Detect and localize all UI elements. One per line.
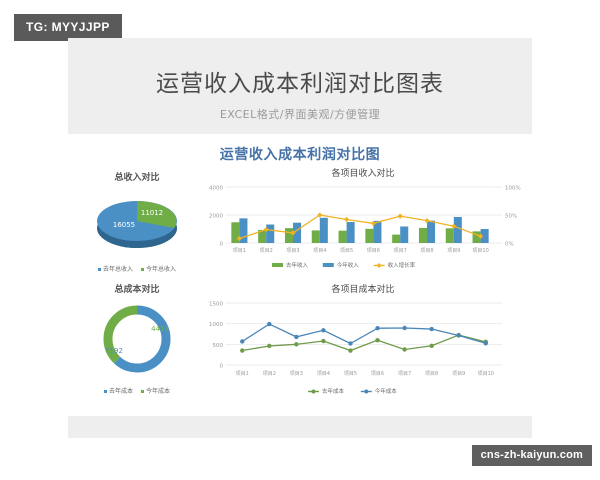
bar-last-year	[339, 231, 347, 243]
bar-x-tick: 项目6	[367, 248, 380, 254]
bar-this-year	[400, 226, 408, 243]
cost-point	[348, 348, 352, 352]
total-revenue-pie-chart: 总收入对比 16055 11012 去年总收入	[76, 170, 198, 274]
cost-point	[240, 339, 244, 343]
line-legend-label: 今年成本	[375, 387, 398, 395]
bar-y2-tick: 50%	[505, 214, 517, 220]
bar-x-tick: 项目2	[260, 248, 273, 254]
legend-item-this-year-cost: 今年成本	[141, 386, 170, 395]
growth-rate-line	[239, 215, 480, 239]
dashboard-heading: 运营收入成本利润对比图	[68, 144, 532, 164]
cost-point	[402, 326, 406, 330]
line-x-tick: 项目1	[236, 371, 249, 377]
bar-y-tick: 4000	[209, 186, 223, 192]
cost-point	[267, 344, 271, 348]
line-x-tick: 项目9	[452, 371, 465, 377]
cost-point	[321, 328, 325, 332]
cost-point	[294, 342, 298, 346]
line-chart-title: 各项目成本对比	[200, 282, 526, 295]
bar-this-year	[320, 218, 328, 243]
bar-chart-svg: 0200040000%50%100%项目1项目2项目3项目4项目5项目6项目7项…	[200, 181, 526, 277]
cost-point	[240, 348, 244, 352]
cost-point	[429, 327, 433, 331]
pie-chart-title: 总收入对比	[76, 170, 198, 183]
legend-swatch-icon	[141, 268, 144, 271]
bar-x-tick: 项目10	[472, 248, 488, 254]
bar-this-year	[347, 222, 355, 243]
bar-y-tick: 2000	[209, 214, 223, 220]
total-cost-donut-chart: 总成本对比 7192 4413 去年成本 今年成本	[76, 282, 198, 394]
legend-swatch-icon	[141, 390, 144, 393]
legend-label: 今年成本	[146, 388, 170, 395]
bar-this-year	[454, 217, 462, 243]
pie-label-last-year: 16055	[113, 221, 135, 229]
pie-label-this-year: 11012	[141, 209, 163, 217]
cost-point	[294, 335, 298, 339]
pie-chart-legend: 去年总收入 今年总收入	[76, 264, 198, 273]
line-y-tick: 1000	[209, 322, 223, 328]
bar-y-tick: 0	[220, 242, 224, 248]
bar-this-year	[266, 225, 274, 243]
site-watermark: cns-zh-kaiyun.com	[472, 445, 592, 466]
bar-x-tick: 项目1	[233, 248, 246, 254]
bar-last-year	[285, 228, 293, 243]
line-x-tick: 项目5	[344, 371, 357, 377]
donut-chart-title: 总成本对比	[76, 282, 198, 295]
legend-item-last-year-revenue: 去年总收入	[98, 264, 133, 273]
dashboard-card: 运营收入成本利润对比图 总收入对比 16055 11012	[68, 134, 532, 416]
bar-last-year	[392, 235, 400, 243]
bar-last-year	[419, 228, 427, 243]
cost-point	[267, 322, 271, 326]
bar-last-year	[446, 228, 454, 243]
bar-x-tick: 项目4	[313, 248, 326, 254]
bar-y2-tick: 100%	[505, 186, 521, 192]
bar-this-year	[427, 221, 435, 243]
bar-legend-label: 去年收入	[286, 261, 309, 269]
bar-chart-title: 各项目收入对比	[200, 166, 526, 179]
cost-point	[348, 341, 352, 345]
cost-point	[484, 341, 488, 345]
cost-point	[429, 344, 433, 348]
line-chart-svg: 050010001500项目1项目2项目3项目4项目5项目6项目7项目8项目9项…	[200, 297, 526, 403]
line-x-tick: 项目8	[425, 371, 438, 377]
bar-x-tick: 项目3	[286, 248, 299, 254]
legend-item-last-year-cost: 去年成本	[104, 386, 133, 395]
donut-label-last-year: 7192	[105, 347, 123, 355]
cost-point	[402, 347, 406, 351]
project-revenue-bar-chart: 各项目收入对比 0200040000%50%100%项目1项目2项目3项目4项目…	[200, 166, 526, 278]
line-x-tick: 项目7	[398, 371, 411, 377]
growth-rate-marker	[398, 214, 403, 219]
line-y-tick: 500	[213, 343, 224, 349]
screenshot-root: TG: MYYJJPP 运营收入成本利润对比图表 EXCEL格式/界面美观/方便…	[0, 0, 600, 480]
cost-point	[375, 326, 379, 330]
bar-y2-tick: 0%	[505, 242, 514, 248]
legend-label: 去年成本	[109, 388, 133, 395]
cost-point	[457, 333, 461, 337]
bar-last-year	[365, 229, 373, 243]
line-x-tick: 项目6	[371, 371, 384, 377]
bar-x-tick: 项目7	[394, 248, 407, 254]
growth-rate-marker	[344, 217, 349, 222]
telegram-watermark-badge: TG: MYYJJPP	[14, 14, 122, 41]
line-x-tick: 项目10	[478, 371, 494, 377]
legend-label: 今年总收入	[146, 266, 176, 273]
line-y-tick: 0	[220, 364, 224, 370]
legend-swatch-icon	[104, 390, 107, 393]
bar-legend-label: 收入增长率	[388, 261, 416, 269]
bar-x-tick: 项目5	[340, 248, 353, 254]
slide-panel: 运营收入成本利润对比图表 EXCEL格式/界面美观/方便管理 运营收入成本利润对…	[68, 38, 532, 438]
cost-line-去年成本	[242, 335, 486, 351]
page-subtitle: EXCEL格式/界面美观/方便管理	[68, 106, 532, 122]
donut-chart-legend: 去年成本 今年成本	[76, 386, 198, 395]
donut-chart-svg: 7192 4413	[76, 295, 198, 381]
bar-last-year	[312, 230, 320, 243]
cost-line-今年成本	[242, 324, 486, 343]
bar-x-tick: 项目8	[420, 248, 433, 254]
donut-label-this-year: 4413	[151, 325, 169, 333]
line-x-tick: 项目3	[290, 371, 303, 377]
line-x-tick: 项目2	[263, 371, 276, 377]
page-title: 运营收入成本利润对比图表	[68, 64, 532, 98]
legend-label: 去年总收入	[103, 266, 133, 273]
pie-chart-svg: 16055 11012	[76, 183, 198, 259]
legend-swatch-icon	[98, 268, 101, 271]
line-legend-label: 去年成本	[322, 387, 345, 395]
project-cost-line-chart: 各项目成本对比 050010001500项目1项目2项目3项目4项目5项目6项目…	[200, 282, 526, 404]
cost-point	[375, 338, 379, 342]
bar-legend-label: 今年收入	[337, 261, 360, 269]
bar-x-tick: 项目9	[447, 248, 460, 254]
cost-point	[321, 339, 325, 343]
line-x-tick: 项目4	[317, 371, 330, 377]
legend-item-this-year-revenue: 今年总收入	[141, 264, 176, 273]
line-y-tick: 1500	[209, 302, 223, 308]
